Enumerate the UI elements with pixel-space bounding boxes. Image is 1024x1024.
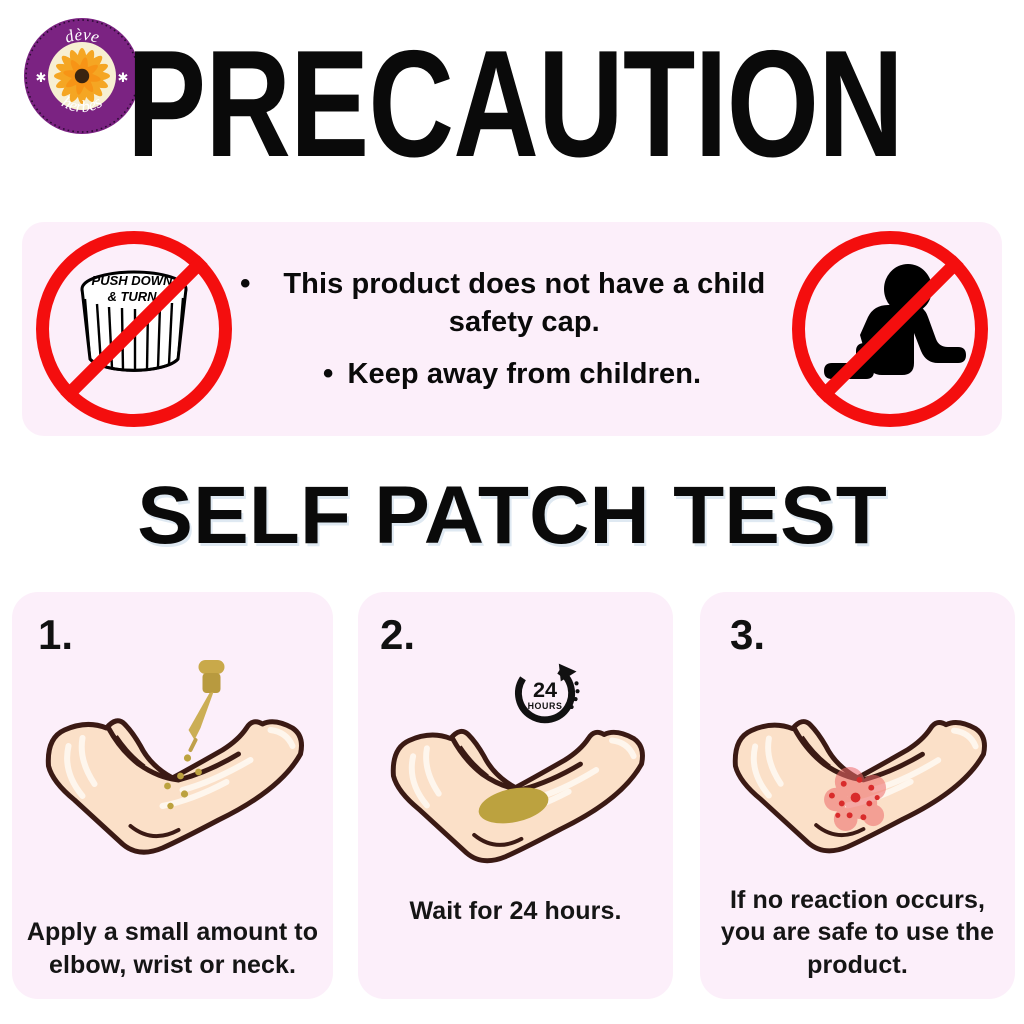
step-caption-1: Apply a small amount to elbow, wrist or … xyxy=(24,916,321,981)
svg-text:✱: ✱ xyxy=(36,70,47,85)
badge-value: 24 xyxy=(533,677,557,702)
step-caption-2: Wait for 24 hours. xyxy=(370,895,661,928)
patch-test-step-card-2: 2. xyxy=(358,592,673,999)
patch-test-step-card-3: 3. xyxy=(700,592,1015,999)
precaution-bullet-2: • Keep away from children. xyxy=(240,355,784,393)
precaution-bullet-1: • This product does not have a child saf… xyxy=(240,265,784,342)
elbow-with-24-hour-clock-icon: 24 HOURS xyxy=(358,654,673,884)
step-caption-3: If no reaction occurs, you are safe to u… xyxy=(712,884,1003,982)
step-number-1: 1. xyxy=(38,614,73,656)
bullet-dot-icon: • xyxy=(323,355,334,393)
patch-test-step-card-1: 1. xyxy=(12,592,333,999)
precaution-banner: PUSH DOWN & TURN • This product does not… xyxy=(22,222,1002,436)
precaution-text-block: • This product does not have a child saf… xyxy=(232,265,792,394)
no-child-safety-cap-icon: PUSH DOWN & TURN xyxy=(36,231,232,427)
page-title: PRECAUTION xyxy=(281,18,749,190)
precaution-bullet-1-text: This product does not have a child safet… xyxy=(265,265,784,342)
badge-unit: HOURS xyxy=(528,701,563,711)
elbow-with-dropper-icon xyxy=(12,654,333,884)
precaution-bullet-2-text: Keep away from children. xyxy=(347,355,701,393)
step-number-2: 2. xyxy=(380,614,415,656)
brand-logo: dève herbes ✱ ✱ xyxy=(22,16,142,136)
no-children-icon xyxy=(792,231,988,427)
step-number-3: 3. xyxy=(730,614,765,656)
elbow-with-rash-icon xyxy=(700,654,1015,884)
bullet-dot-icon: • xyxy=(240,265,251,303)
self-patch-test-heading: SELF PATCH TEST xyxy=(0,468,1024,564)
